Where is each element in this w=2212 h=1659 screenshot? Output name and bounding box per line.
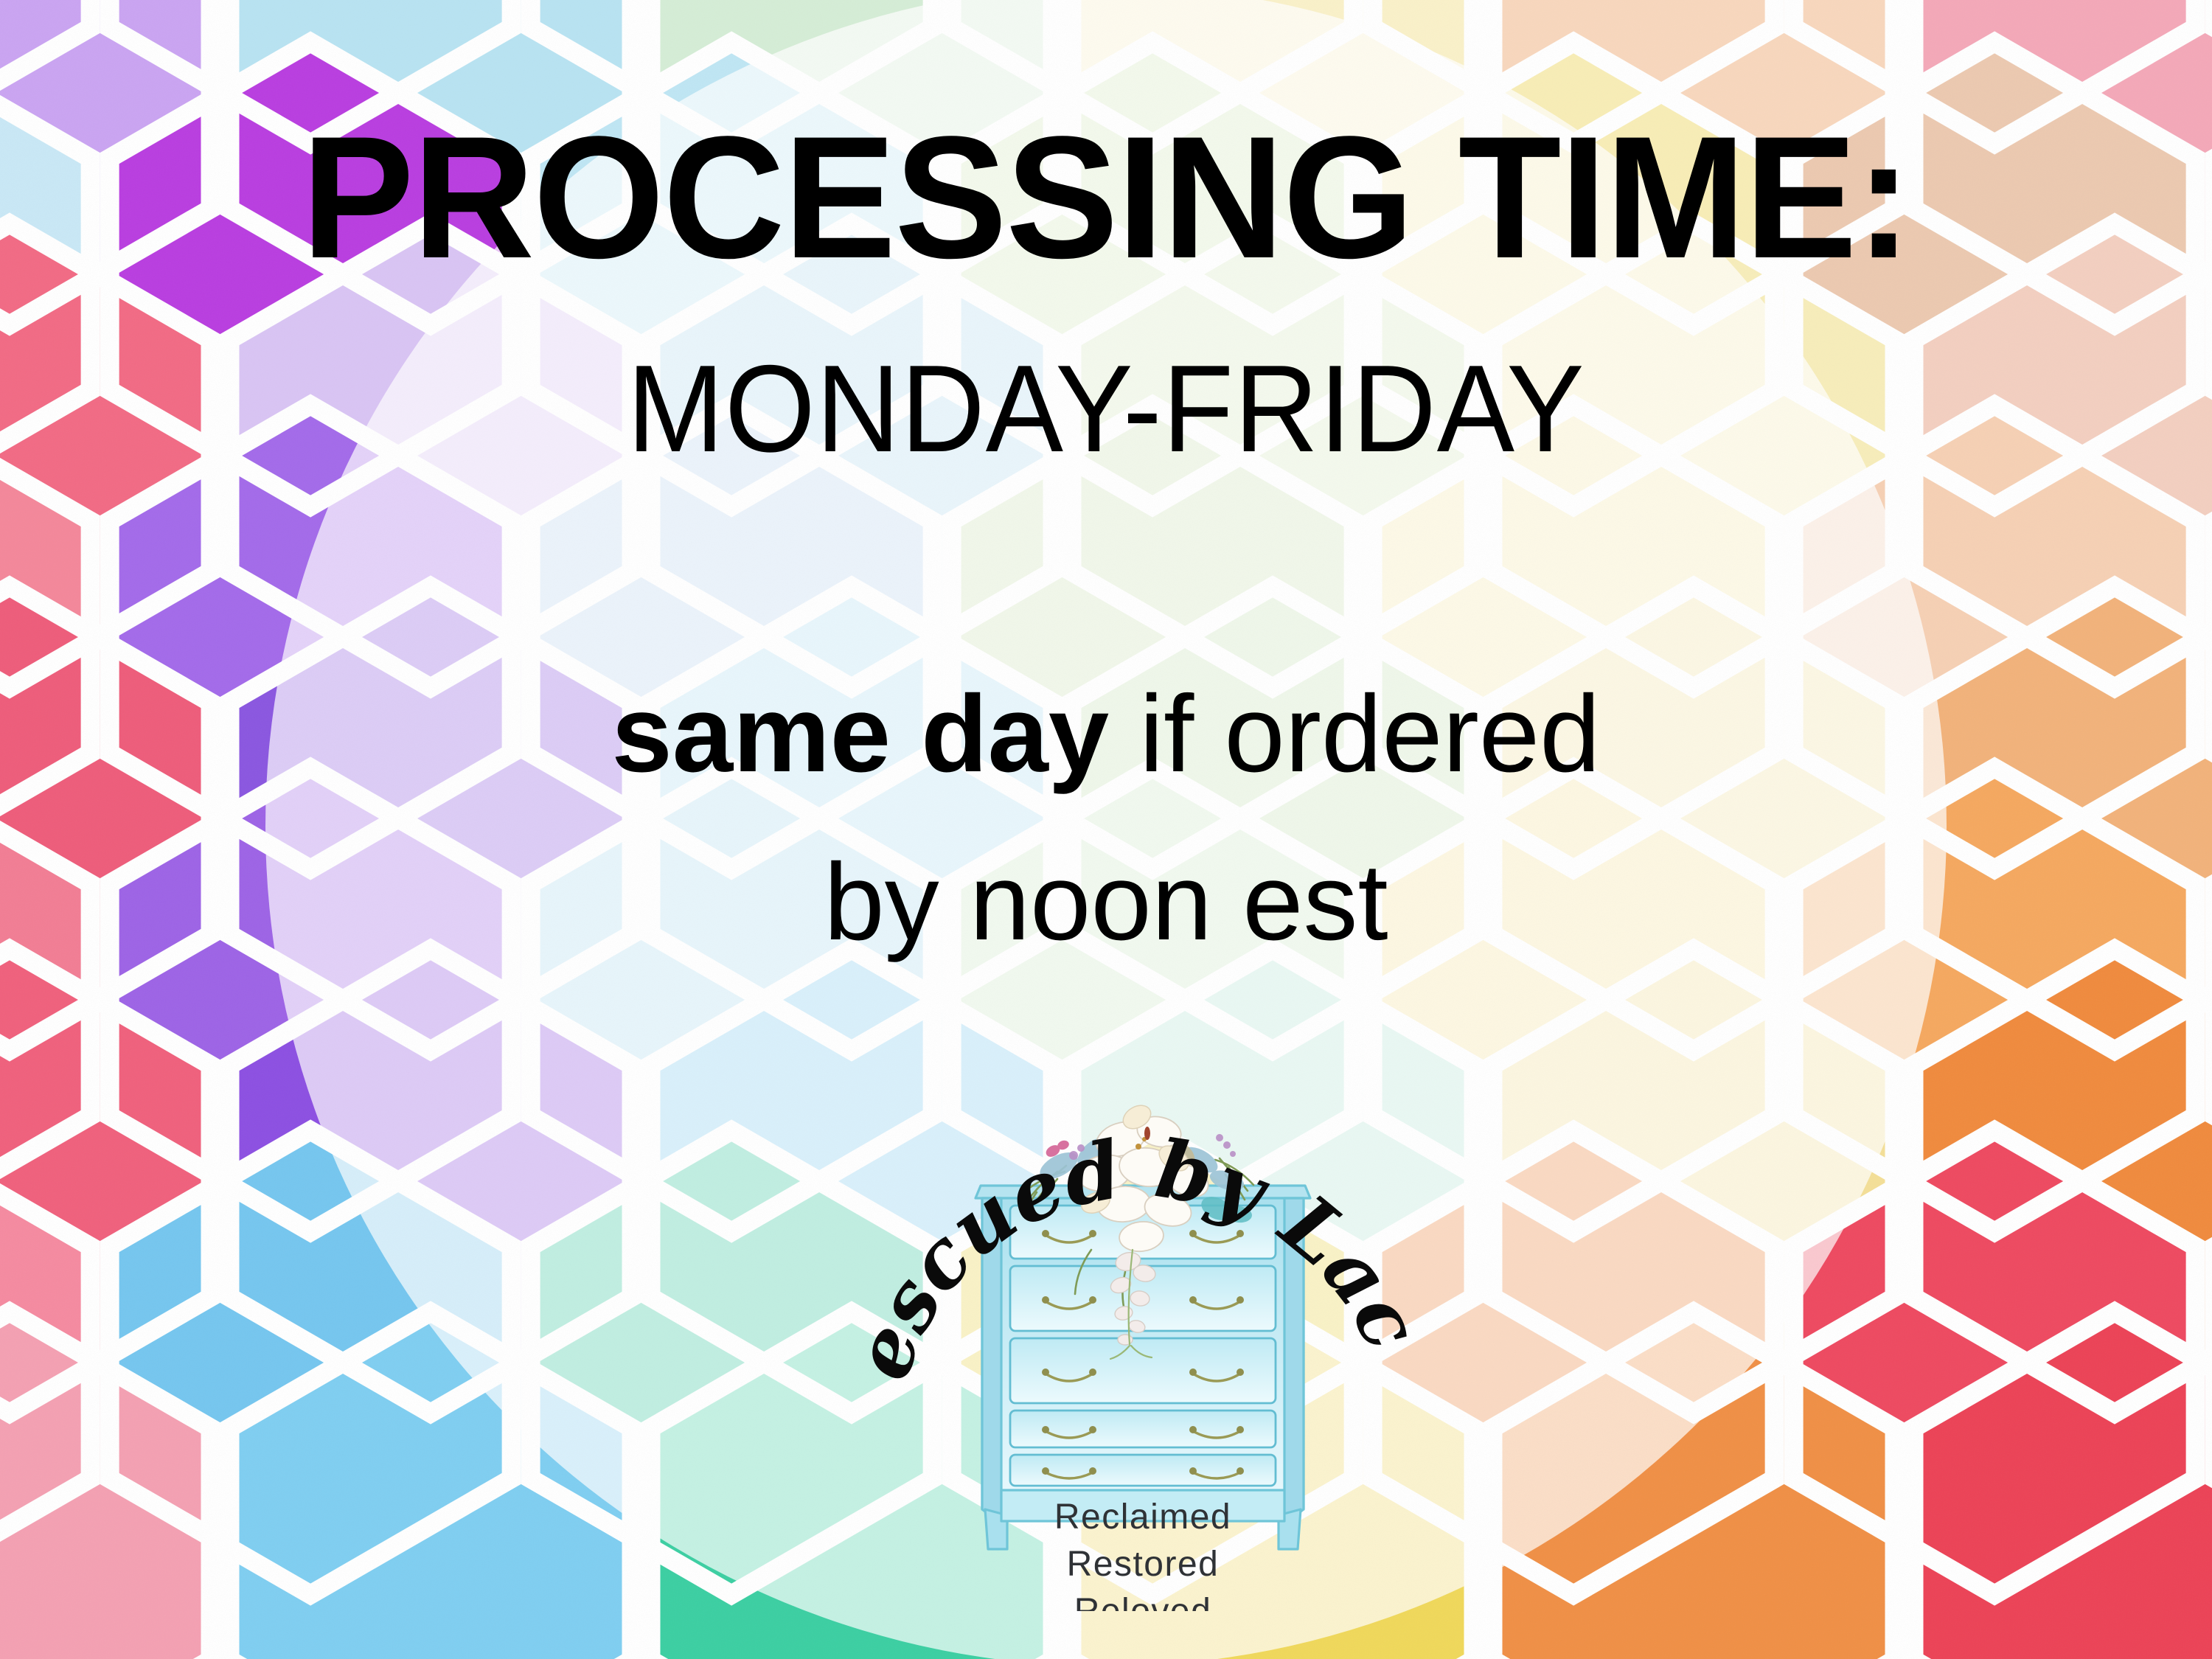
svg-text:Reclaimed: Reclaimed [1054, 1498, 1231, 1537]
brand-tagline: Reclaimed Restored Reloved [1054, 1498, 1231, 1611]
svg-text:Reloved: Reloved [1074, 1592, 1212, 1611]
svg-text:Restored: Restored [1067, 1545, 1220, 1584]
brand-logo-svg: Rescued by Lacey Reclaimed Restored Relo… [870, 1029, 1416, 1611]
poster-canvas: PROCESSING TIME: MONDAY-FRIDAY same day … [0, 0, 2212, 1659]
brand-logo: Rescued by Lacey Reclaimed Restored Relo… [870, 1029, 1416, 1611]
